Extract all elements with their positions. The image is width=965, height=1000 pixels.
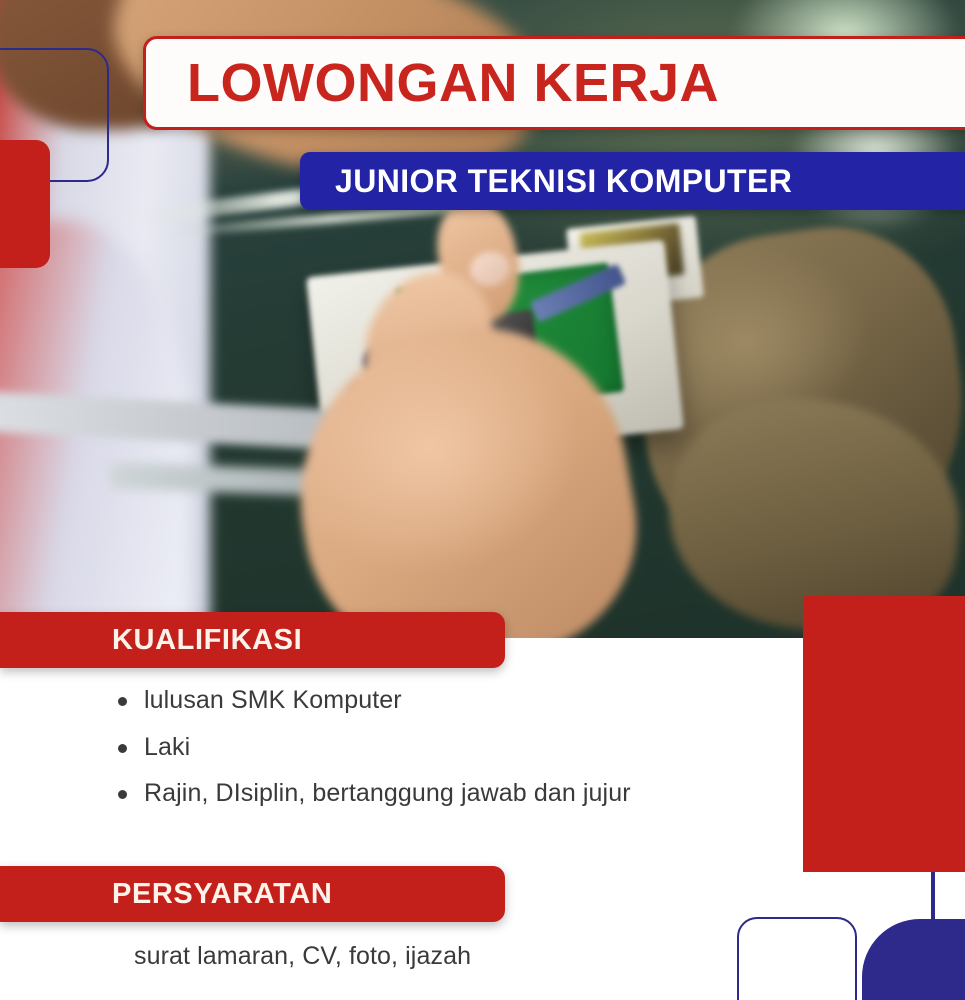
bullet-icon [118, 790, 127, 799]
requirements-heading-bar: PERSYARATAN [0, 866, 505, 922]
decor-blue-outline-bottom-right [737, 917, 857, 1000]
qualification-text: Laki [144, 731, 190, 764]
decor-red-square-top-left [0, 140, 50, 268]
requirements-text: surat lamaran, CV, foto, ijazah [134, 940, 471, 973]
list-item: Rajin, DIsiplin, bertanggung jawab dan j… [118, 777, 778, 810]
job-vacancy-poster: LOWONGAN KERJA JUNIOR TEKNISI KOMPUTER K… [0, 0, 965, 1000]
headline-banner: LOWONGAN KERJA [143, 36, 965, 130]
qualifications-heading-text: KUALIFIKASI [112, 626, 302, 655]
position-banner: JUNIOR TEKNISI KOMPUTER [300, 152, 965, 210]
position-text: JUNIOR TEKNISI KOMPUTER [335, 165, 792, 197]
bullet-icon [118, 744, 127, 753]
list-item: lulusan SMK Komputer [118, 684, 778, 717]
list-item: Laki [118, 731, 778, 764]
headline-text: LOWONGAN KERJA [187, 56, 719, 110]
bullet-icon [118, 697, 127, 706]
requirements-heading-text: PERSYARATAN [112, 880, 332, 909]
qualification-text: lulusan SMK Komputer [144, 684, 402, 717]
decor-blue-connector-line [931, 872, 935, 920]
qualification-text: Rajin, DIsiplin, bertanggung jawab dan j… [144, 777, 631, 810]
decor-red-block-right [803, 596, 965, 872]
qualifications-heading-bar: KUALIFIKASI [0, 612, 505, 668]
qualifications-list: lulusan SMK Komputer Laki Rajin, DIsipli… [118, 684, 778, 824]
